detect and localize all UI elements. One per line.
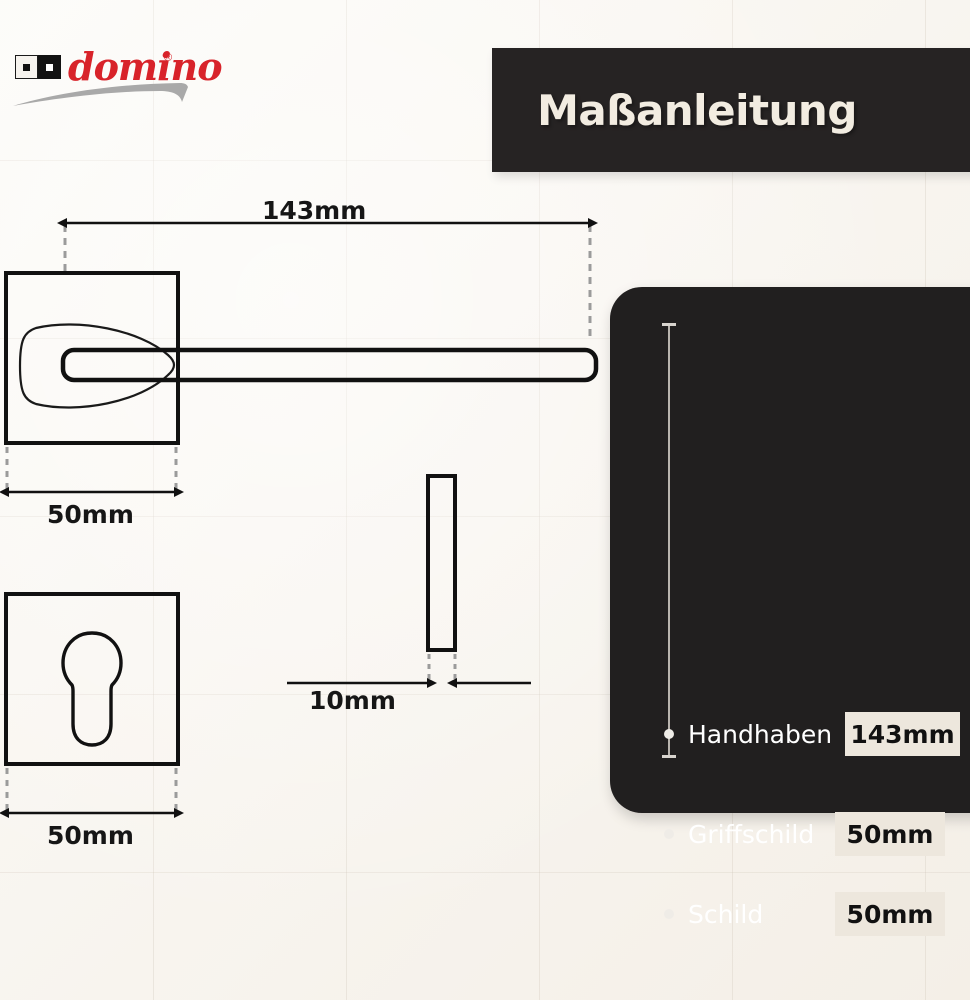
spec-timeline-line — [668, 325, 670, 757]
spec-value-schild: 50mm — [835, 892, 945, 936]
spec-bullet-icon — [664, 729, 674, 739]
specification-panel: Handhaben 143mm Griffschild 50mm Schild … — [610, 287, 970, 813]
dimension-143mm — [65, 223, 590, 340]
dimension-50mm-bottom — [7, 768, 176, 813]
dimension-label-50mm-top: 50mm — [47, 500, 134, 529]
spec-label-schild: Schild — [688, 900, 763, 929]
timeline-cap-top-icon — [662, 323, 676, 326]
plate-side-profile — [428, 476, 455, 650]
handle-rosette-plate — [6, 273, 178, 443]
spec-label-handhaben: Handhaben — [688, 720, 832, 749]
spec-row-griffschild: Griffschild 50mm — [610, 814, 970, 854]
keyhole-escutcheon-plate — [6, 594, 178, 764]
dimension-label-143mm: 143mm — [262, 196, 366, 225]
spec-value-handhaben: 143mm — [845, 712, 960, 756]
spec-row-schild: Schild 50mm — [610, 894, 970, 934]
lever-handle-bar — [63, 350, 596, 380]
measurement-guide-page: domino ® Maßanleitung — [0, 0, 970, 1000]
dimension-10mm — [287, 654, 531, 686]
lever-base-oval — [20, 324, 174, 407]
spec-value-griffschild: 50mm — [835, 812, 945, 856]
spec-bullet-icon — [664, 909, 674, 919]
spec-row-handhaben: Handhaben 143mm — [610, 714, 970, 754]
spec-label-griffschild: Griffschild — [688, 820, 814, 849]
spec-bullet-icon — [664, 829, 674, 839]
dimension-label-50mm-bottom: 50mm — [47, 821, 134, 850]
dimension-label-10mm: 10mm — [309, 686, 396, 715]
timeline-cap-bottom-icon — [662, 755, 676, 758]
euro-cylinder-keyhole — [63, 633, 121, 745]
dimension-50mm-top — [7, 447, 176, 492]
